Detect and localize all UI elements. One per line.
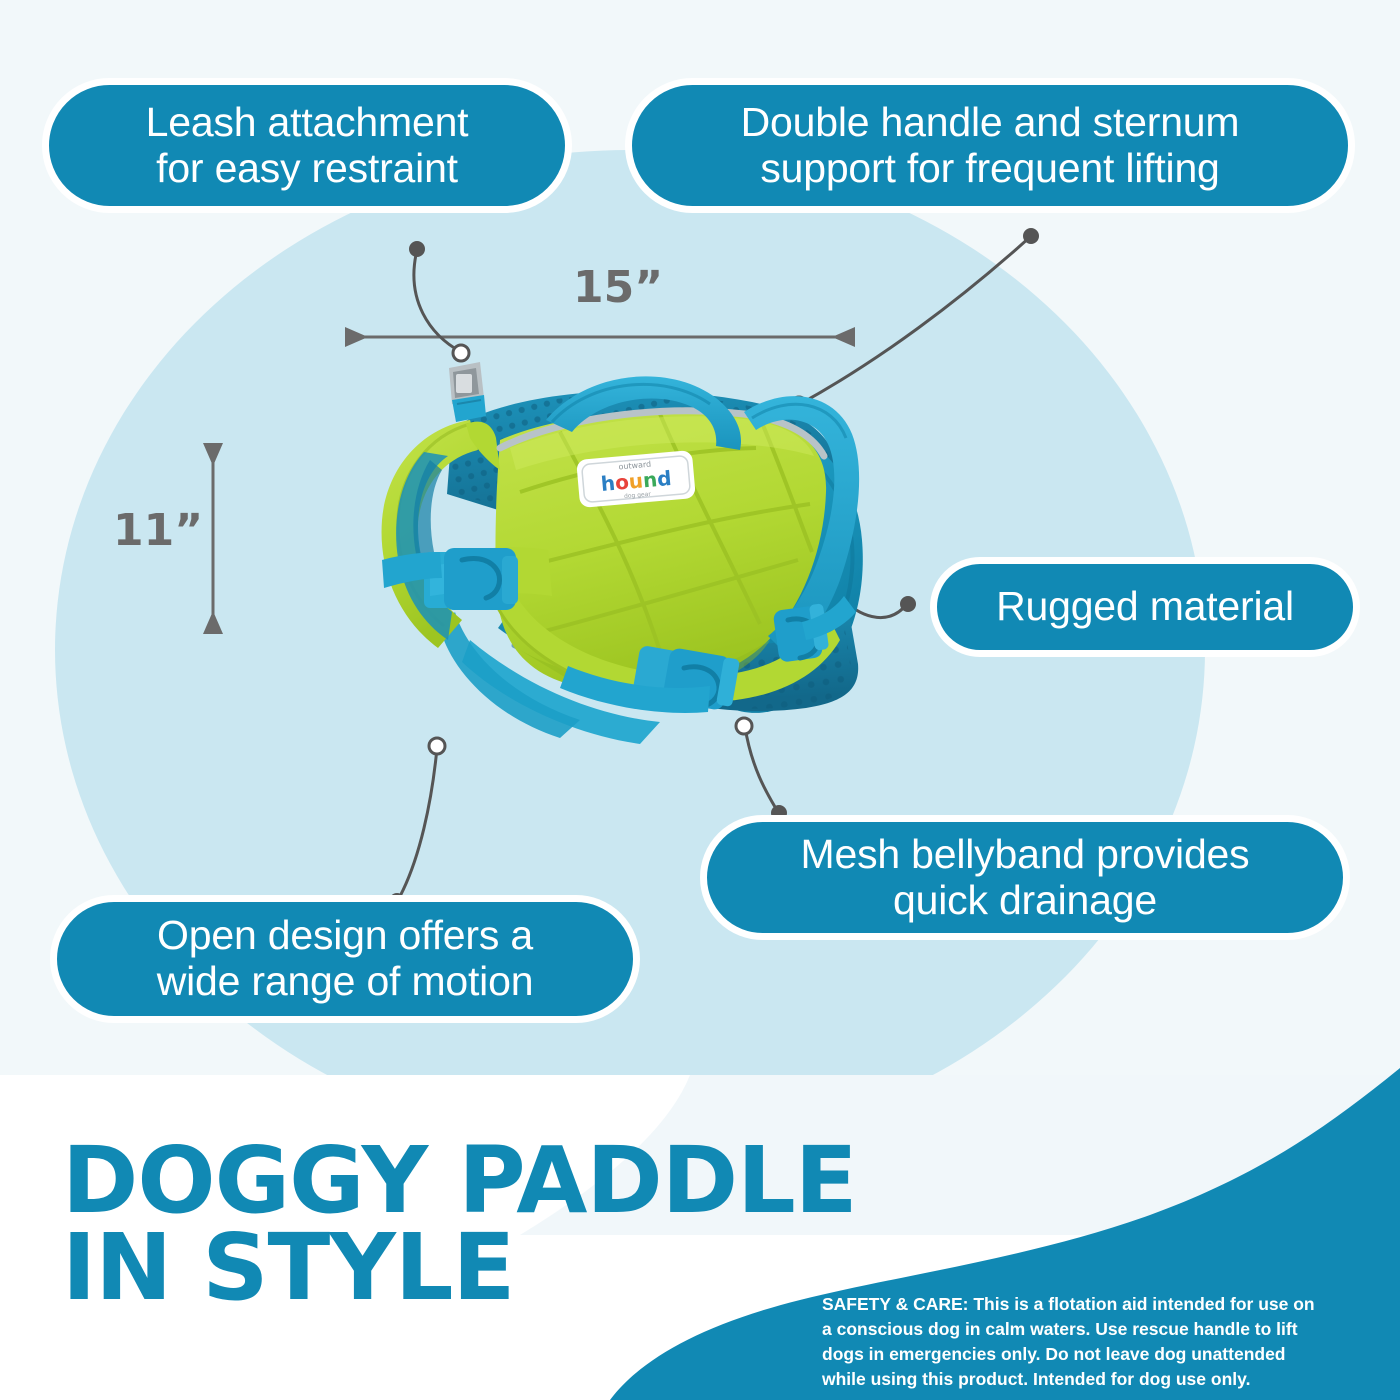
callout-leash-line2: for easy restraint bbox=[146, 146, 469, 192]
page-title: DOGGY PADDLE IN STYLE bbox=[62, 1137, 857, 1312]
background-top-strip bbox=[0, 0, 1400, 60]
infographic-canvas: outward hound dog gear Leash attachment … bbox=[0, 0, 1400, 1400]
callout-open-line1: Open design offers a bbox=[157, 913, 534, 959]
callout-mesh-bellyband[interactable]: Mesh bellyband provides quick drainage bbox=[700, 815, 1350, 940]
width-dimension-label: 15” bbox=[573, 262, 663, 313]
callout-rugged-line1: Rugged material bbox=[996, 584, 1294, 630]
callout-leash-line1: Leash attachment bbox=[146, 100, 469, 146]
callout-open-design[interactable]: Open design offers a wide range of motio… bbox=[50, 895, 640, 1023]
callout-mesh-line1: Mesh bellyband provides bbox=[801, 832, 1250, 878]
callout-mesh-line2: quick drainage bbox=[801, 878, 1250, 924]
height-dimension-label: 11” bbox=[113, 505, 203, 556]
callout-handle-line1: Double handle and sternum bbox=[741, 100, 1240, 146]
page-title-line2: IN STYLE bbox=[62, 1224, 857, 1311]
callout-double-handle[interactable]: Double handle and sternum support for fr… bbox=[625, 78, 1355, 213]
safety-and-care-text: SAFETY & CARE: This is a flotation aid i… bbox=[822, 1292, 1322, 1391]
leader-handle-dot bbox=[1023, 228, 1039, 244]
callout-leash-attachment[interactable]: Leash attachment for easy restraint bbox=[42, 78, 572, 213]
callout-rugged-material[interactable]: Rugged material bbox=[930, 557, 1360, 657]
callout-open-line2: wide range of motion bbox=[157, 959, 534, 1005]
callout-handle-line2: support for frequent lifting bbox=[741, 146, 1240, 192]
